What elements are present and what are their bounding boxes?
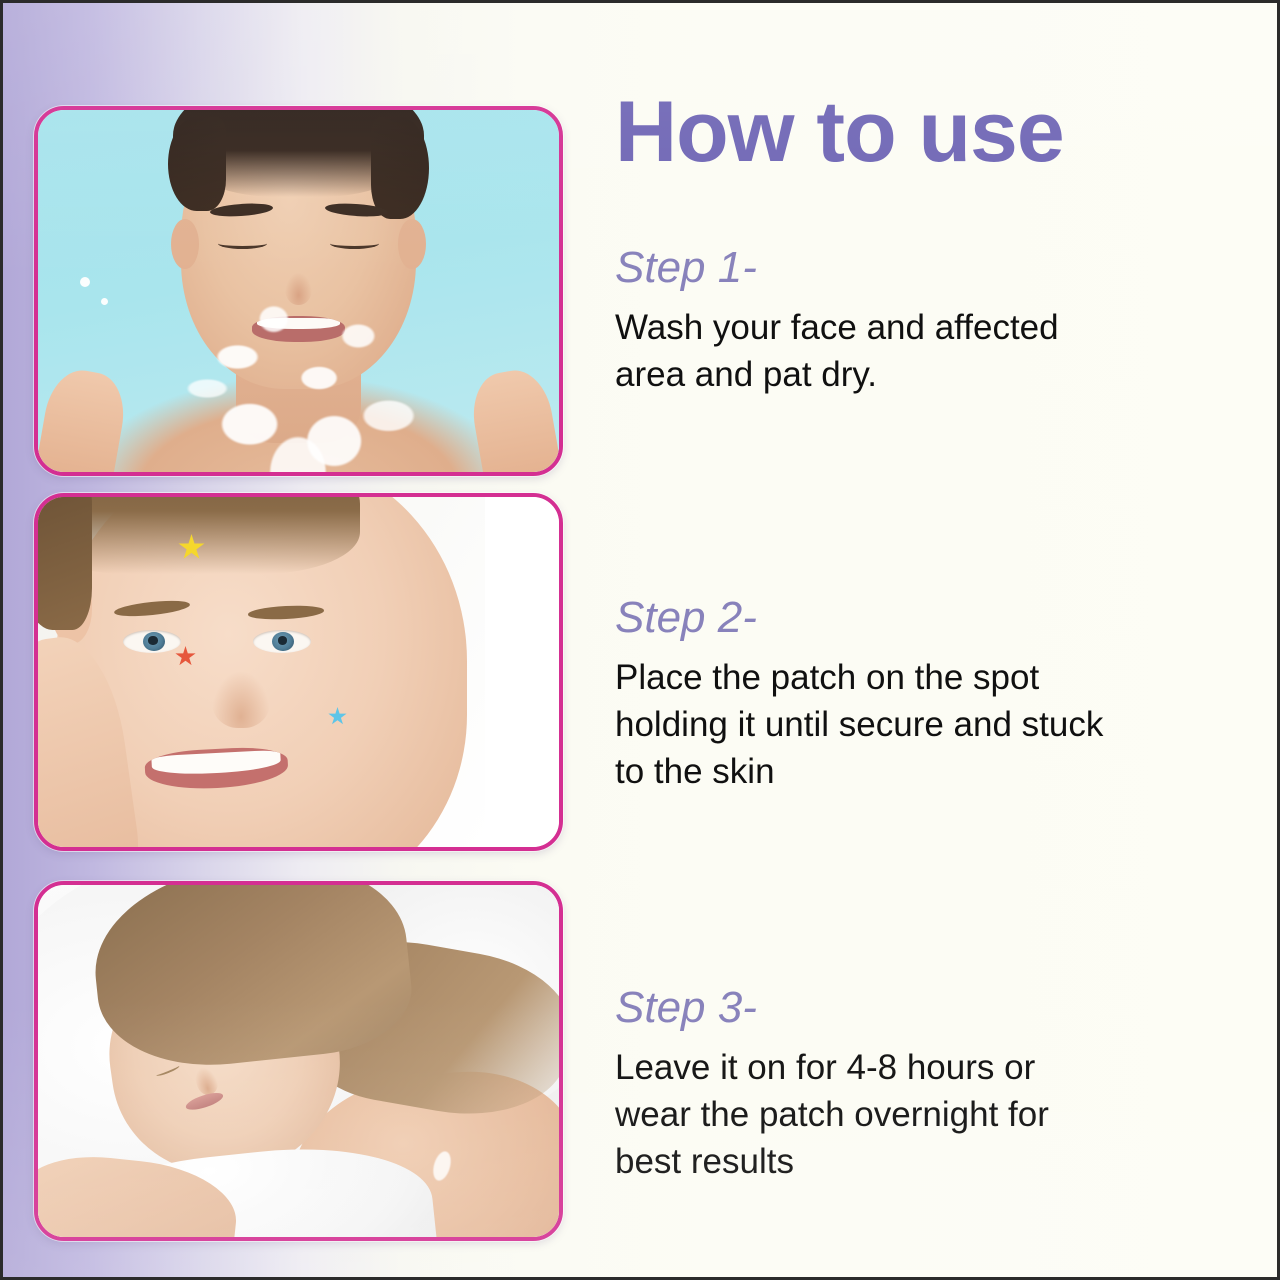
- step-3-image-card: [34, 881, 563, 1241]
- step-3-label: Step 3-: [615, 985, 1235, 1031]
- hand-left: [38, 365, 131, 472]
- page-title: How to use: [615, 89, 1064, 175]
- eye-left: [123, 630, 181, 653]
- hand-right: [466, 365, 559, 472]
- instructions-column: How to use Step 1- Wash your face and af…: [611, 3, 1251, 1277]
- hair-side: [38, 497, 92, 630]
- infographic-canvas: How to use Step 1- Wash your face and af…: [0, 0, 1280, 1280]
- photo-patch-on-face: [38, 497, 559, 847]
- step-3-description: Leave it on for 4-8 hours or wear the pa…: [615, 1045, 1227, 1186]
- step-3-block: Step 3- Leave it on for 4-8 hours or wea…: [615, 985, 1235, 1186]
- step-1-description: Wash your face and affected area and pat…: [615, 305, 1227, 399]
- step-2-image-card: [34, 493, 563, 851]
- white-panel: [484, 497, 559, 847]
- step-1-image-card: [34, 106, 563, 476]
- eye-right: [253, 630, 311, 653]
- photo-washing-face: [38, 110, 559, 472]
- water-splash: [153, 273, 455, 472]
- nose: [212, 672, 270, 728]
- step-2-block: Step 2- Place the patch on the spot hold…: [615, 595, 1235, 796]
- iris-left: [143, 632, 165, 651]
- step-1-block: Step 1- Wash your face and affected area…: [615, 245, 1235, 399]
- water-droplet: [101, 298, 108, 305]
- portrait-region: [38, 497, 485, 847]
- teeth: [152, 749, 282, 776]
- step-2-description: Place the patch on the spot holding it u…: [615, 655, 1227, 796]
- step-image-column: [3, 3, 595, 1277]
- iris-right: [272, 632, 294, 651]
- closed-eye-lower: [155, 1064, 180, 1079]
- lips: [184, 1090, 225, 1114]
- step-1-label: Step 1-: [615, 245, 1235, 291]
- water-droplet: [80, 277, 90, 287]
- photo-sleeping-woman: [38, 885, 559, 1237]
- step-2-label: Step 2-: [615, 595, 1235, 641]
